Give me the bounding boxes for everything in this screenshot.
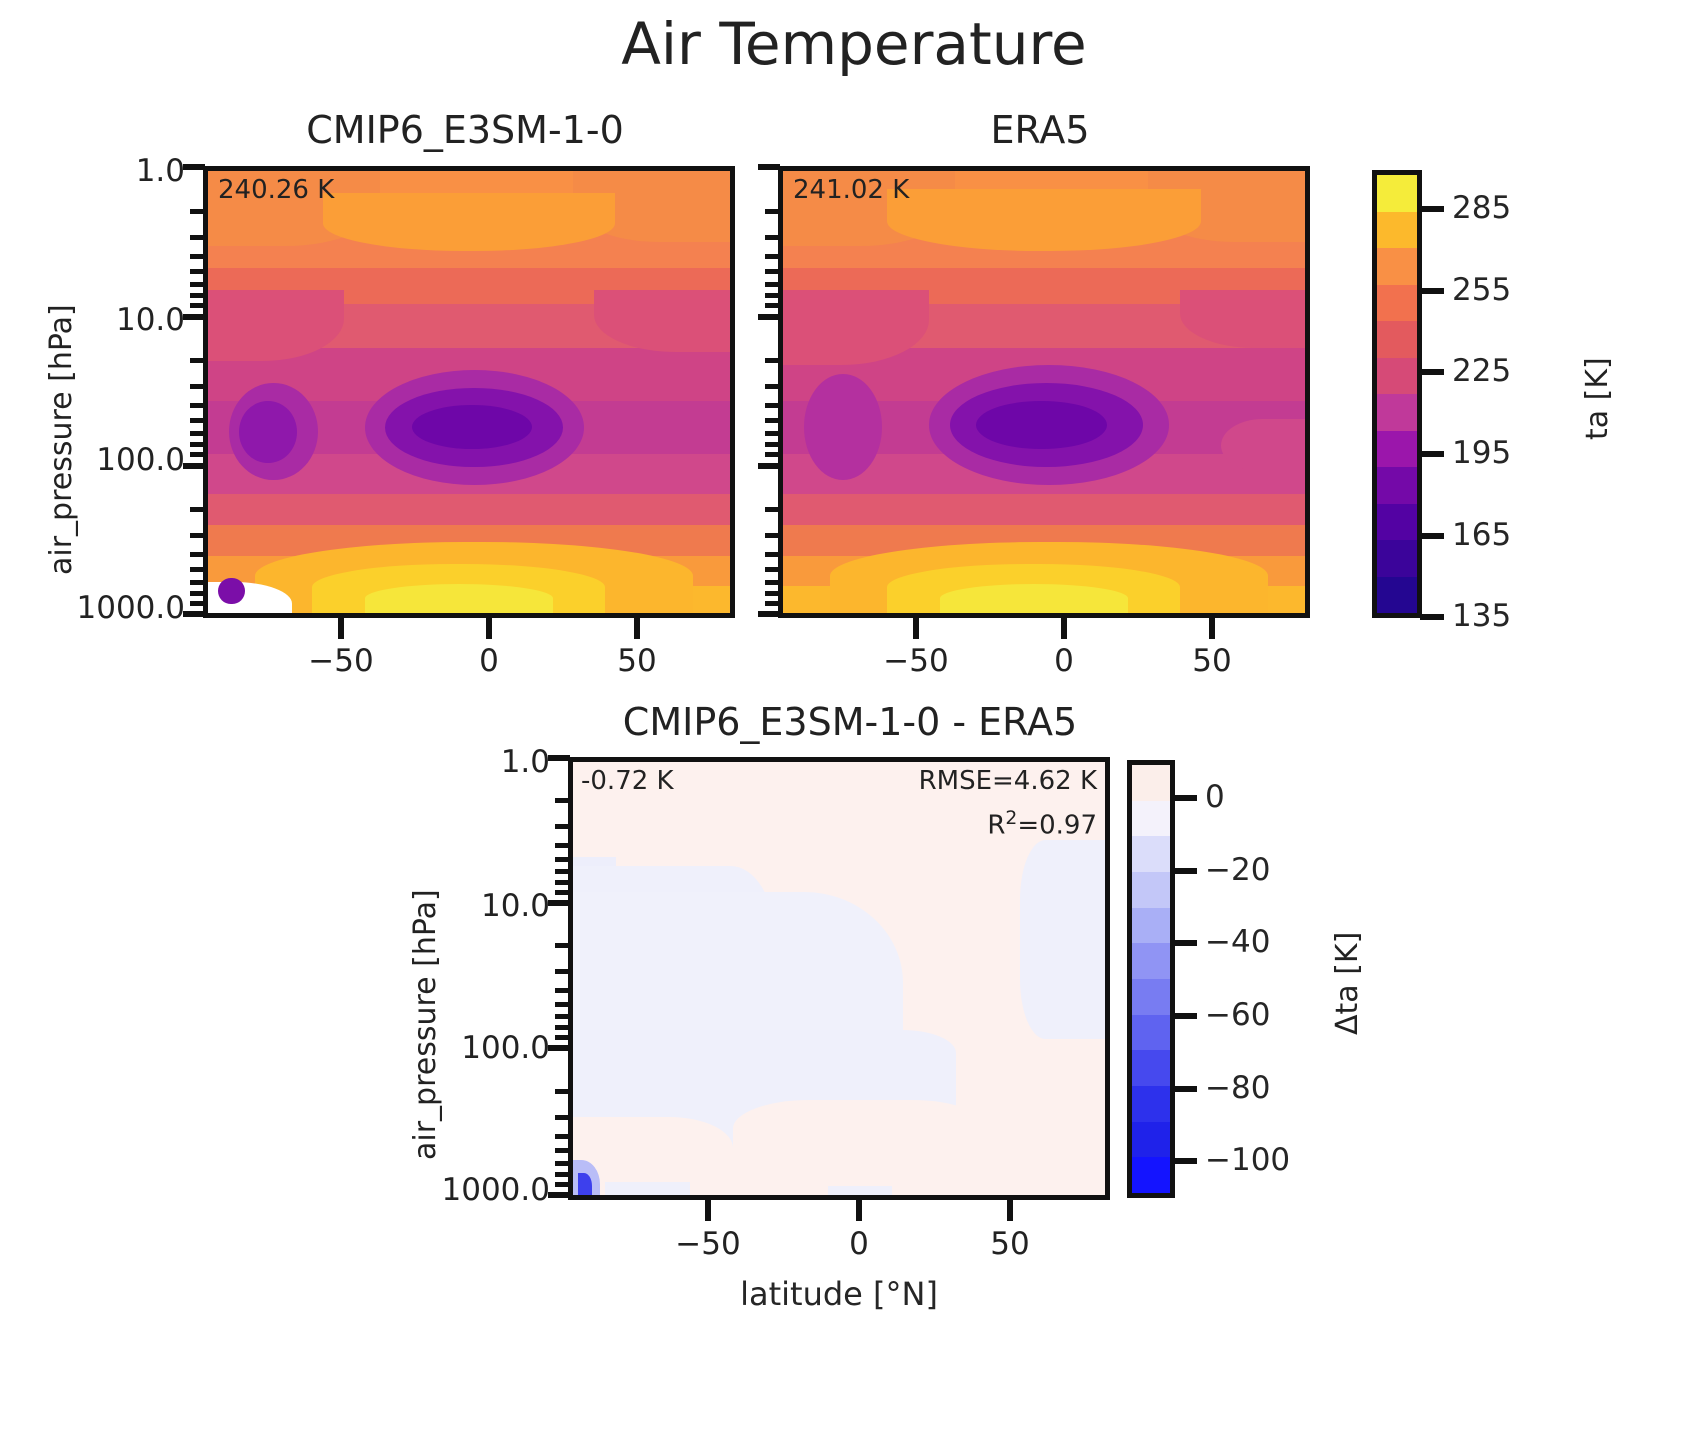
y-minor-tick-ref [765,269,780,274]
cbar-tick [1420,533,1444,539]
y-minor-tick-ref [765,552,780,557]
y-major-tick-ref [758,463,780,469]
cbar-tick [1420,369,1444,375]
y-minor-tick [190,303,205,308]
y-minor-tick-diff [555,890,570,895]
y-minor-tick-ref [765,601,780,606]
y-minor-tick [190,418,205,423]
y-minor-tick [190,567,205,572]
x-major-tick-ref [1061,617,1067,639]
y-axis-label-top: air_pressure [hPa] [44,304,79,575]
r2-superscript: 2 [1005,808,1017,829]
r2-prefix: R [987,811,1005,841]
y-minor-tick-ref [765,452,780,457]
y-minor-tick [190,358,205,363]
difference-mean-annotation: -0.72 K [581,766,674,796]
diff-cbar-tick [1173,940,1197,946]
y-minor-tick-ref [765,431,780,436]
x-tick-label-50-diff: 50 [950,1226,1070,1262]
y-minor-tick-ref [765,254,780,259]
cbar-tick [1420,288,1444,294]
y-minor-tick-diff [555,1182,570,1187]
y-minor-tick [190,533,205,538]
cbar-tick [1420,614,1444,620]
diff-cbar-tick-label-m80: −80 [1205,1070,1270,1106]
cbar-tick-label-195: 195 [1452,435,1511,471]
difference-panel-title: CMIP6_E3SM-1-0 - ERA5 [540,700,1160,744]
model-contour-panel[interactable]: 240.26 K [203,166,735,618]
y-minor-tick-diff [555,1134,570,1139]
y-major-tick-ref [758,164,780,170]
y-minor-tick-diff [555,798,570,803]
y-minor-tick-diff [555,824,570,829]
x-major-tick [486,617,492,639]
cbar-tick-label-255: 255 [1452,272,1511,308]
y-minor-tick [190,269,205,274]
y-minor-tick [190,591,205,596]
diff-cbar-tick [1173,1158,1197,1164]
y-minor-tick-diff [555,943,570,948]
y-minor-tick [190,442,205,447]
y-minor-tick-ref [765,442,780,447]
y-minor-tick-ref [765,384,780,389]
y-minor-tick-diff [555,1089,570,1094]
y-major-tick [183,463,205,469]
y-minor-tick-diff [555,969,570,974]
y-minor-tick [190,384,205,389]
difference-colorbar[interactable] [1127,760,1175,1198]
cbar-tick [1420,206,1444,212]
y-minor-tick-ref [765,293,780,298]
y-minor-tick-diff [555,857,570,862]
y-minor-tick-ref [765,591,780,596]
y-minor-tick-diff [555,1172,570,1177]
x-tick-label-m50-ref: −50 [856,643,976,679]
diff-cbar-tick [1173,795,1197,801]
y-minor-tick [190,282,205,287]
y-minor-tick-diff [555,880,570,885]
x-major-tick-diff [856,1199,862,1221]
y-minor-tick [190,403,205,408]
y-minor-tick-ref [765,358,780,363]
x-major-tick-ref [913,617,919,639]
model-mean-annotation: 240.26 K [218,175,334,205]
x-tick-label-0-diff: 0 [799,1226,919,1262]
y-minor-tick-diff [555,1014,570,1019]
y-minor-tick [190,601,205,606]
main-colorbar[interactable] [1372,170,1422,618]
reference-contour-panel[interactable]: 241.02 K [778,166,1310,618]
y-tick-label-1: 1.0 [40,153,185,189]
y-minor-tick-diff [555,843,570,848]
x-major-tick [338,617,344,639]
y-major-tick [183,611,205,617]
diff-cbar-tick [1173,1013,1197,1019]
x-tick-label-50-ref: 50 [1152,643,1272,679]
cbar-tick-label-225: 225 [1452,353,1511,389]
diff-cbar-tick [1173,1086,1197,1092]
cbar-tick [1420,451,1444,457]
y-minor-tick-ref [765,235,780,240]
y-minor-tick [190,209,205,214]
figure-title: Air Temperature [0,10,1708,78]
diff-cbar-tick-label-m100: −100 [1205,1142,1290,1178]
x-tick-label-50-model: 50 [577,643,697,679]
y-minor-tick [190,580,205,585]
y-minor-tick [190,254,205,259]
x-major-tick [634,617,640,639]
y-minor-tick-ref [765,209,780,214]
y-major-tick-ref [758,611,780,617]
x-tick-label-m50-diff: −50 [648,1226,768,1262]
r2-value: =0.97 [1017,811,1097,841]
y-major-tick-diff [548,900,570,906]
x-tick-label-0-model: 0 [429,643,549,679]
x-axis-label: latitude [°N] [568,1275,1110,1313]
y-minor-tick-ref [765,507,780,512]
difference-rmse-annotation: RMSE=4.62 K [919,766,1097,796]
y-minor-tick-diff [555,1115,570,1120]
diff-cbar-tick-label-m20: −20 [1205,852,1270,888]
y-minor-tick-diff [555,869,570,874]
y-tick-label-4: 1000.0 [40,590,185,626]
y-major-tick [183,164,205,170]
x-major-tick-ref [1209,617,1215,639]
y-minor-tick-diff [555,1148,570,1153]
diff-cbar-tick-label-m40: −40 [1205,924,1270,960]
y-minor-tick-diff [555,988,570,993]
cbar-tick-label-285: 285 [1452,190,1511,226]
cbar-tick-label-165: 165 [1452,517,1511,553]
x-tick-label-m50-model: −50 [281,643,401,679]
y-minor-tick-diff [555,1002,570,1007]
y-major-tick [183,314,205,320]
model-panel-title: CMIP6_E3SM-1-0 [195,108,735,152]
y-minor-tick [190,235,205,240]
y-minor-tick-ref [765,303,780,308]
x-tick-label-0-ref: 0 [1004,643,1124,679]
y-minor-tick [190,431,205,436]
difference-r2-annotation: R2=0.97 [987,808,1097,841]
main-colorbar-label: ta [K] [1580,357,1615,440]
y-minor-tick-ref [765,282,780,287]
y-minor-tick-ref [765,418,780,423]
y-minor-tick [190,452,205,457]
y-minor-tick [190,507,205,512]
difference-contour-panel[interactable]: -0.72 K RMSE=4.62 K R2=0.97 [568,757,1110,1200]
diff-cbar-tick-label-m60: −60 [1205,997,1270,1033]
y-tick-label-1-diff: 1.0 [405,744,550,780]
y-major-tick-diff [548,1045,570,1051]
difference-colorbar-label: Δta [K] [1330,932,1365,1035]
y-minor-tick-ref [765,403,780,408]
cbar-tick-label-135: 135 [1452,598,1511,634]
diff-cbar-tick-label-0: 0 [1205,779,1225,815]
y-minor-tick [190,293,205,298]
y-major-tick-diff [548,755,570,761]
y-major-tick-ref [758,314,780,320]
y-major-tick-diff [548,1192,570,1198]
y-minor-tick-diff [555,1025,570,1030]
y-minor-tick-diff [555,1161,570,1166]
y-minor-tick-ref [765,580,780,585]
x-major-tick-diff [705,1199,711,1221]
reference-mean-annotation: 241.02 K [793,175,909,205]
y-minor-tick-ref [765,567,780,572]
reference-panel-title: ERA5 [770,108,1310,152]
y-tick-label-4-diff: 1000.0 [405,1172,550,1208]
x-major-tick-diff [1007,1199,1013,1221]
y-axis-label-diff: air_pressure [hPa] [408,889,443,1160]
y-minor-tick [190,552,205,557]
diff-cbar-tick [1173,868,1197,874]
y-minor-tick-diff [555,1035,570,1040]
y-minor-tick-ref [765,533,780,538]
